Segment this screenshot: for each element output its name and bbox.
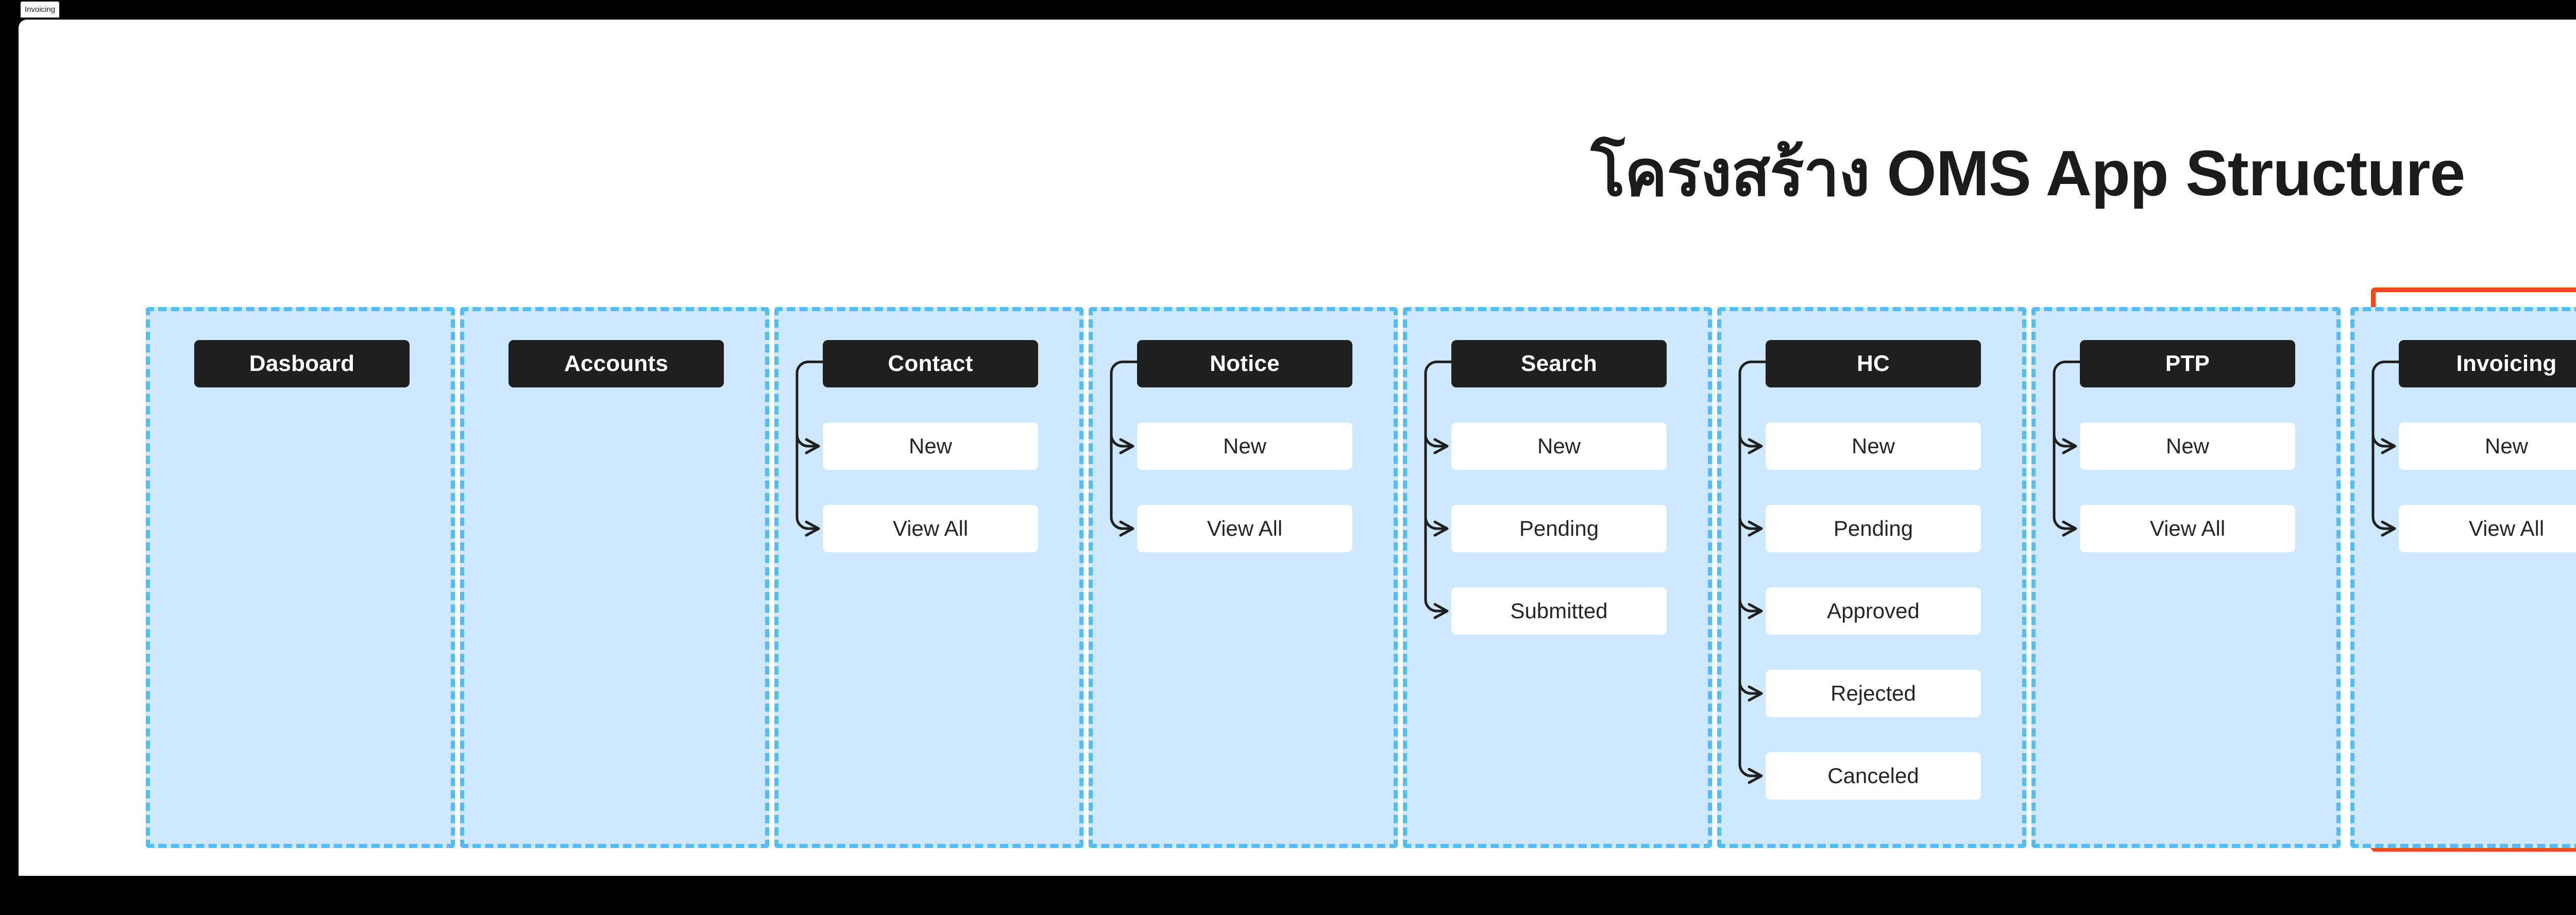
page-title: โครงสร้าง OMS App Structure bbox=[19, 137, 2576, 211]
node-child-hc-rejected[interactable]: Rejected bbox=[1766, 670, 1981, 717]
tab-invoicing[interactable]: Invoicing bbox=[21, 2, 59, 18]
diagram-column-accounts[interactable]: Accounts bbox=[457, 287, 772, 859]
node-stack: SearchNewPendingSubmitted bbox=[1451, 340, 1667, 635]
diagram-column-hc[interactable]: HCNewPendingApprovedRejectedCanceled bbox=[1715, 287, 2029, 859]
node-stack: PTPNewView All bbox=[2080, 340, 2295, 552]
diagram-column-contact[interactable]: ContactNewView All bbox=[772, 287, 1086, 859]
diagram-columns-row: DasboardAccountsContactNewView AllNotice… bbox=[143, 287, 2576, 859]
node-stack: NoticeNewView All bbox=[1137, 340, 1352, 552]
node-child-hc-new[interactable]: New bbox=[1766, 422, 1981, 470]
node-header-invoicing[interactable]: Invoicing bbox=[2399, 340, 2576, 387]
node-header-ptp[interactable]: PTP bbox=[2080, 340, 2295, 387]
node-stack: Accounts bbox=[509, 340, 724, 387]
node-child-ptp-new[interactable]: New bbox=[2080, 422, 2295, 470]
column-dashed-container: NoticeNewView All bbox=[1089, 307, 1398, 848]
node-child-hc-approved[interactable]: Approved bbox=[1766, 587, 1981, 635]
connector-lines bbox=[1721, 340, 1981, 807]
node-header-hc[interactable]: HC bbox=[1766, 340, 1981, 387]
node-child-hc-pending[interactable]: Pending bbox=[1766, 505, 1981, 552]
browser-tab-strip: Invoicing bbox=[0, 0, 2576, 21]
node-child-invoicing-view-all[interactable]: View All bbox=[2399, 505, 2576, 552]
node-header-contact[interactable]: Contact bbox=[823, 340, 1038, 387]
node-child-notice-new[interactable]: New bbox=[1137, 422, 1352, 470]
node-child-search-pending[interactable]: Pending bbox=[1451, 505, 1667, 552]
diagram-column-invoicing[interactable]: InvoicingNewView All bbox=[2343, 287, 2576, 859]
node-child-invoicing-new[interactable]: New bbox=[2399, 422, 2576, 470]
node-child-search-submitted[interactable]: Submitted bbox=[1451, 587, 1667, 635]
diagram-column-search[interactable]: SearchNewPendingSubmitted bbox=[1400, 287, 1715, 859]
node-header-search[interactable]: Search bbox=[1451, 340, 1667, 387]
diagram-column-ptp[interactable]: PTPNewView All bbox=[2029, 287, 2343, 859]
column-dashed-container: HCNewPendingApprovedRejectedCanceled bbox=[1717, 307, 2026, 848]
node-header-dashboard[interactable]: Dasboard bbox=[194, 340, 410, 387]
node-child-contact-view-all[interactable]: View All bbox=[823, 505, 1038, 552]
column-dashed-container: Dasboard bbox=[146, 307, 455, 848]
node-child-hc-canceled[interactable]: Canceled bbox=[1766, 752, 1981, 800]
node-child-notice-view-all[interactable]: View All bbox=[1137, 505, 1352, 552]
node-child-search-new[interactable]: New bbox=[1451, 422, 1667, 470]
node-child-contact-new[interactable]: New bbox=[823, 422, 1038, 470]
diagram-canvas: โครงสร้าง OMS App Structure DasboardAcco… bbox=[19, 20, 2576, 876]
column-dashed-container: SearchNewPendingSubmitted bbox=[1403, 307, 1712, 848]
app-frame: Invoicing โครงสร้าง OMS App Structure Da… bbox=[0, 0, 2576, 915]
node-stack: Dasboard bbox=[194, 340, 410, 387]
column-dashed-container: ContactNewView All bbox=[774, 307, 1083, 848]
column-dashed-container: Accounts bbox=[460, 307, 769, 848]
node-stack: ContactNewView All bbox=[823, 340, 1038, 552]
diagram-column-dashboard[interactable]: Dasboard bbox=[143, 287, 457, 859]
node-stack: InvoicingNewView All bbox=[2399, 340, 2576, 552]
column-dashed-container: PTPNewView All bbox=[2031, 307, 2341, 848]
node-header-notice[interactable]: Notice bbox=[1137, 340, 1352, 387]
node-stack: HCNewPendingApprovedRejectedCanceled bbox=[1766, 340, 1981, 800]
diagram-column-notice[interactable]: NoticeNewView All bbox=[1086, 287, 1400, 859]
node-header-accounts[interactable]: Accounts bbox=[509, 340, 724, 387]
node-child-ptp-view-all[interactable]: View All bbox=[2080, 505, 2295, 552]
column-dashed-container: InvoicingNewView All bbox=[2350, 307, 2576, 848]
